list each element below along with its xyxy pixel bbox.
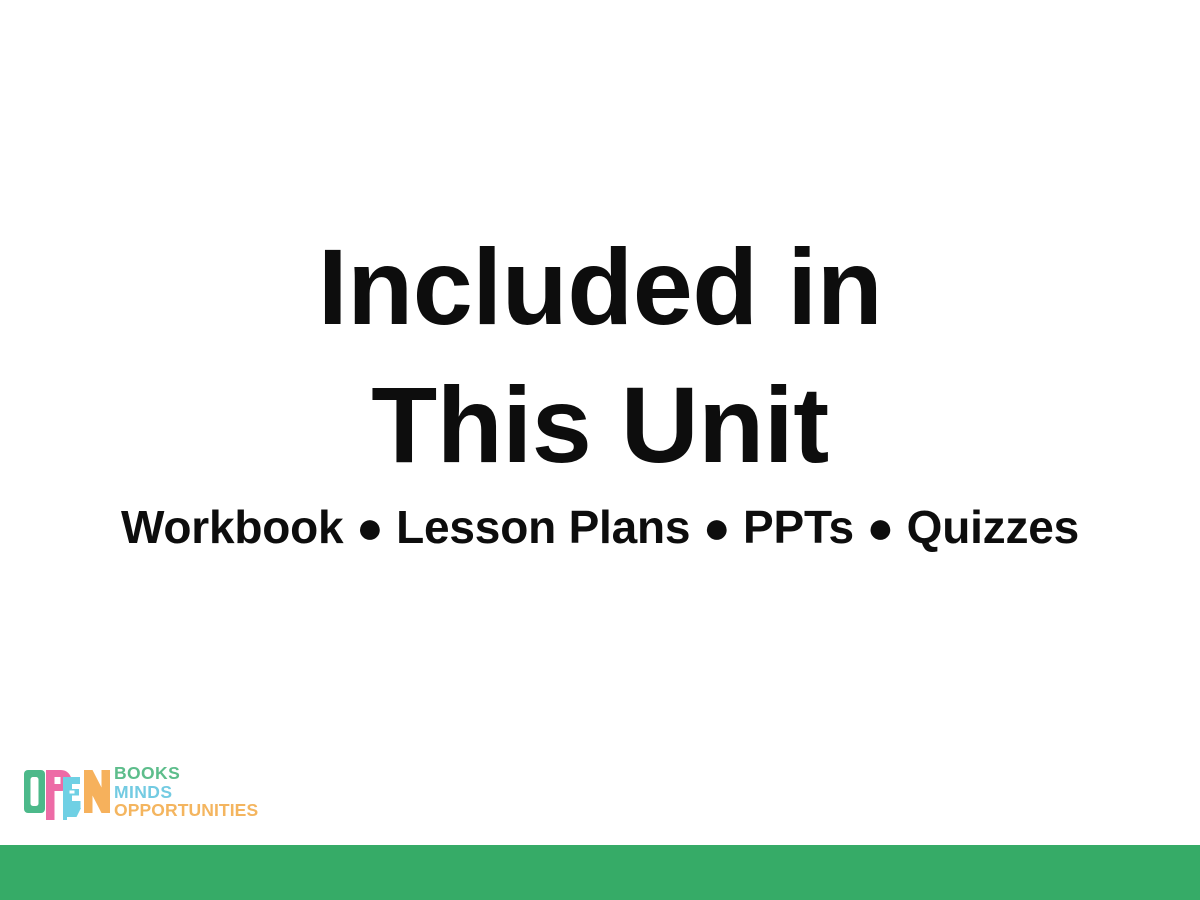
logo-wordmark: BOOKS MINDS OPPORTUNITIES (114, 764, 254, 826)
page-title: Included in This Unit (0, 218, 1200, 494)
footer-accent-bar (0, 845, 1200, 900)
logo-word-books: BOOKS (114, 764, 254, 783)
title-line-1: Included in (0, 218, 1200, 356)
slide-canvas: Included in This Unit Workbook ● Lesson … (0, 0, 1200, 900)
subtitle: Workbook ● Lesson Plans ● PPTs ● Quizzes (0, 500, 1200, 555)
open-books-logo-icon (24, 768, 112, 820)
title-line-2: This Unit (0, 356, 1200, 494)
logo-word-opportunities: OPPORTUNITIES (114, 801, 254, 820)
brand-logo: BOOKS MINDS OPPORTUNITIES (24, 764, 254, 826)
logo-word-minds: MINDS (114, 783, 254, 802)
